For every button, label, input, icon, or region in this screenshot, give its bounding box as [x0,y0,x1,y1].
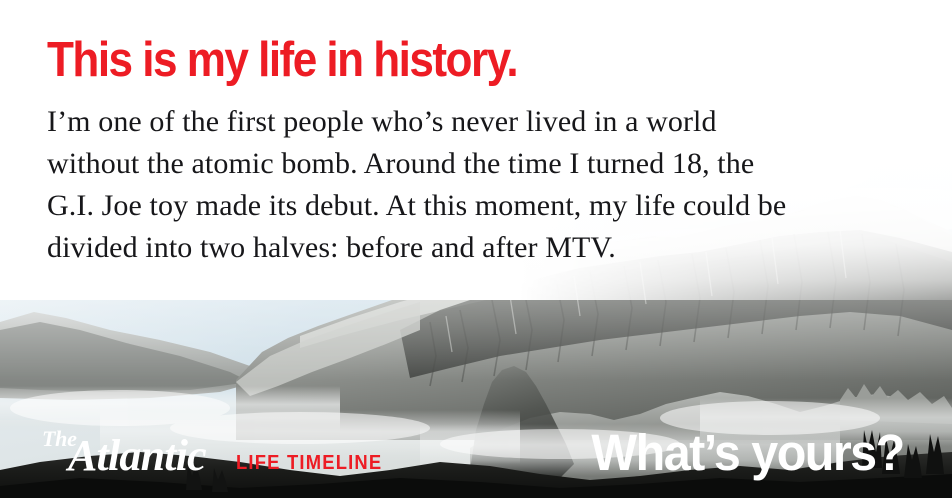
body-line: I’m one of the first people who’s never … [47,101,897,143]
body-line: without the atomic bomb. Around the time… [47,143,897,185]
body-line: divided into two halves: before and afte… [47,227,897,269]
body-line: G.I. Joe toy made its debut. At this mom… [47,185,897,227]
logo-atlantic-word: Atlantic [68,434,206,478]
brand-bar: The Atlantic LIFE TIMELINE [40,428,395,480]
body-paragraph: I’m one of the first people who’s never … [47,101,897,269]
card-copy-block: This is my life in history. I’m one of t… [47,33,907,269]
life-timeline-label: LIFE TIMELINE [236,453,382,473]
the-atlantic-logo[interactable]: The Atlantic [40,428,230,480]
page-title: This is my life in history. [47,33,821,87]
whats-yours-prompt[interactable]: What’s yours? [592,426,904,480]
life-timeline-share-card: This is my life in history. I’m one of t… [0,0,952,498]
